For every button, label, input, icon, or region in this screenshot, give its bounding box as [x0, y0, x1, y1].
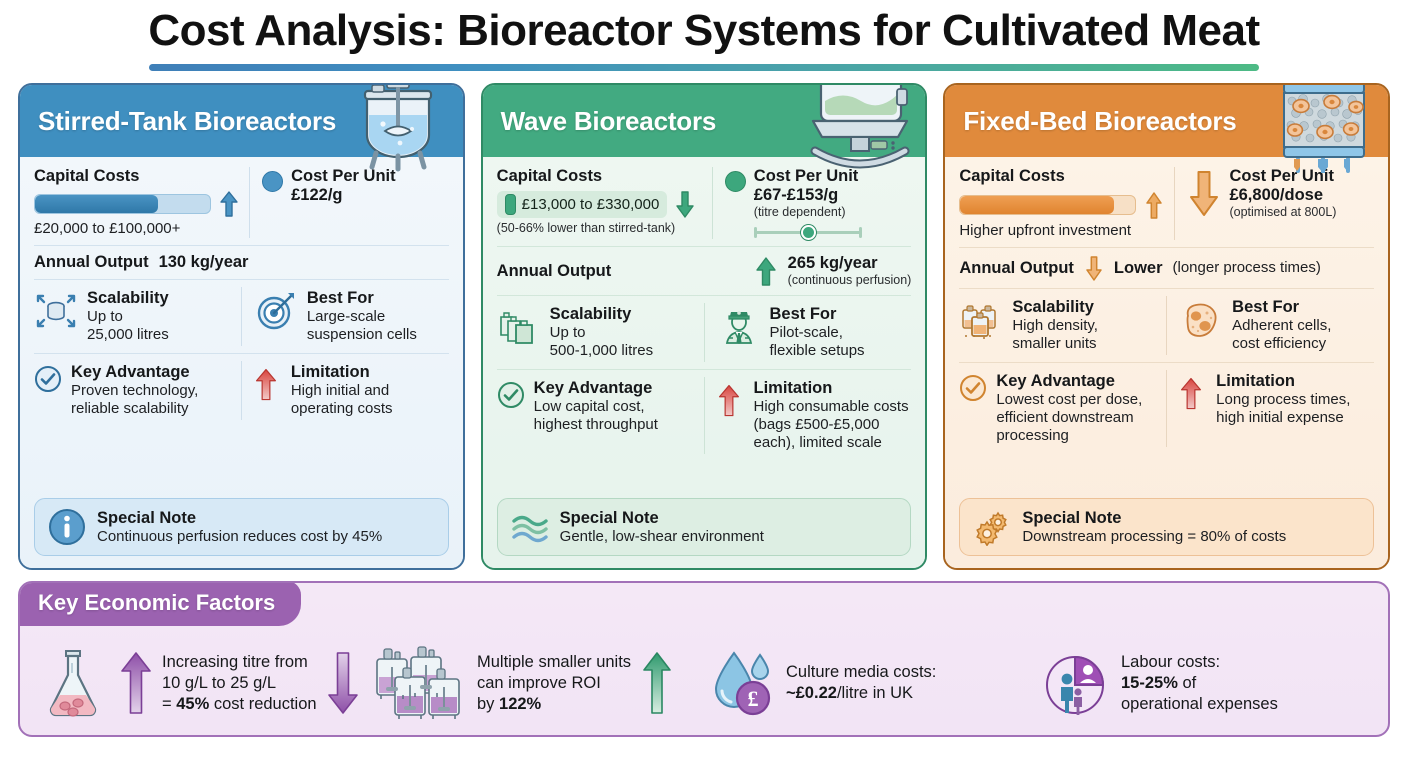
cost-per-unit-block-wave: Cost Per Unit £67-£153/g (titre dependen…: [713, 167, 912, 239]
best-for-value: Adherent cells, cost efficiency: [1232, 317, 1331, 353]
annual-output-value: 265 kg/year: [788, 254, 912, 273]
scalability-label: Scalability: [550, 305, 653, 324]
card-body-fixed-bed: Capital Costs Higher upfront investment: [945, 157, 1388, 568]
cost-per-unit-slider[interactable]: [754, 225, 862, 239]
cost-row-fixed-bed: Capital Costs Higher upfront investment: [959, 167, 1374, 240]
cost-per-unit-note: (optimised at 800L): [1229, 205, 1336, 220]
key-advantage-value: Proven technology, reliable scalability: [71, 382, 198, 418]
key-advantage-cell: Key Advantage Proven technology, reliabl…: [34, 361, 241, 420]
flask-cells-icon: [38, 645, 110, 721]
title-block: Cost Analysis: Bioreactor Systems for Cu…: [0, 0, 1408, 71]
factor-line-2: can improve ROI: [477, 673, 631, 694]
capital-costs-block-fixed-bed: Capital Costs Higher upfront investment: [959, 167, 1174, 240]
special-note-wave: Special Note Gentle, low-shear environme…: [497, 498, 912, 556]
capital-costs-caption: Higher upfront investment: [959, 222, 1164, 240]
waves-icon: [511, 508, 549, 546]
factors-row: Increasing titre from 10 g/L to 25 g/L =…: [20, 637, 1388, 735]
key-advantage-label: Key Advantage: [996, 372, 1142, 391]
check-circle-icon: [959, 374, 987, 402]
best-for-cell: Best For Pilot-scale, flexible setups: [705, 303, 912, 362]
labour-pie-people-icon: [1043, 645, 1115, 721]
best-for-label: Best For: [1232, 298, 1331, 317]
divider: [497, 369, 912, 370]
factor-line-3: operational expenses: [1121, 694, 1278, 715]
special-note-label: Special Note: [560, 509, 764, 528]
capital-costs-label: Capital Costs: [497, 167, 702, 186]
key-advantage-text-block: Key Advantage Proven technology, reliabl…: [71, 363, 198, 418]
special-note-label: Special Note: [1022, 509, 1286, 528]
limitation-cell: Limitation Long process times, high init…: [1167, 370, 1374, 429]
fixed-bed-units-icon: [959, 298, 1003, 342]
limitation-text-block: Limitation High initial and operating co…: [291, 363, 393, 418]
card-title-wave: Wave Bioreactors: [501, 106, 716, 137]
limitation-value: Long process times, high initial expense: [1216, 391, 1350, 427]
card-body-stirred-tank: Capital Costs £20,000 to £100,000+: [20, 157, 463, 568]
key-advantage-cell: Key Advantage Low capital cost, highest …: [497, 377, 704, 436]
card-header-fixed-bed: Fixed-Bed Bioreactors: [945, 85, 1388, 157]
scalability-cell: Scalability High density, smaller units: [959, 296, 1166, 355]
up-arrow-orange-icon: [1144, 191, 1164, 219]
slider-knob[interactable]: [801, 225, 816, 240]
annual-output-note: (continuous perfusion): [788, 273, 912, 288]
special-note-text-block: Special Note Gentle, low-shear environme…: [560, 509, 764, 546]
factor-line-3: = 45% cost reduction: [162, 694, 317, 715]
adherent-cell-icon: [1179, 298, 1223, 342]
scalability-label: Scalability: [87, 289, 169, 308]
cost-per-unit-text: Cost Per Unit £67-£153/g (titre dependen…: [754, 167, 862, 239]
down-arrow-orange-icon: [1187, 169, 1221, 217]
up-arrow-red-icon: [1179, 374, 1207, 402]
capital-costs-bar: [34, 194, 211, 214]
divider: [34, 353, 449, 354]
limitation-label: Limitation: [291, 363, 393, 382]
down-arrow-green-icon: [674, 190, 696, 218]
annual-output-value: Lower: [1114, 259, 1163, 278]
battery-chip-icon: [505, 194, 516, 215]
factor-line-1: Culture media costs:: [786, 662, 936, 683]
factor-multiple-units-text: Multiple smaller units can improve ROI b…: [477, 652, 631, 714]
card-header-wave: Wave Bioreactors: [483, 85, 926, 157]
cost-row-wave: Capital Costs £13,000 to £330,000 (50-66…: [497, 167, 912, 239]
feature-row-scalability-bestfor-stirred-tank: Scalability Up to 25,000 litres: [34, 287, 449, 346]
divider: [497, 295, 912, 296]
annual-output-label: Annual Output: [497, 262, 744, 281]
check-circle-icon: [497, 381, 525, 409]
capital-costs-pill-row: £13,000 to £330,000: [497, 190, 702, 218]
best-for-cell: Best For Large-scale suspension cells: [242, 287, 449, 346]
key-advantage-cell: Key Advantage Lowest cost per dose, effi…: [959, 370, 1166, 447]
bioreactor-card-row: Stirred-Tank Bioreactors: [0, 71, 1408, 570]
up-arrow-purple-icon: [116, 650, 156, 716]
capital-costs-value: £13,000 to £330,000: [522, 196, 660, 213]
factor-line-1: Increasing titre from: [162, 652, 317, 673]
target-dart-icon: [254, 289, 298, 333]
annual-output-row-stirred-tank: Annual Output 130 kg/year: [34, 253, 449, 272]
capital-costs-bar-row: [959, 191, 1164, 219]
slider-cap-left: [754, 227, 757, 238]
best-for-label: Best For: [307, 289, 417, 308]
divider: [959, 288, 1374, 289]
factor-multiple-units: Multiple smaller units can improve ROI b…: [369, 645, 704, 721]
factor-line-1: Multiple smaller units: [477, 652, 631, 673]
cost-row-stirred-tank: Capital Costs £20,000 to £100,000+: [34, 167, 449, 238]
capital-costs-bar-fill: [35, 195, 158, 213]
slider-cap-right: [859, 227, 862, 238]
factor-media-cost-text: Culture media costs: ~£0.22/litre in UK: [786, 662, 936, 704]
capital-costs-caption: (50-66% lower than stirred-tank): [497, 221, 702, 236]
capital-costs-pill: £13,000 to £330,000: [497, 191, 668, 218]
feature-row-scalability-bestfor-wave: Scalability Up to 500-1,000 litres: [497, 303, 912, 362]
annual-output-label: Annual Output: [959, 259, 1074, 278]
limitation-value: High consumable costs (bags £500-£5,000 …: [754, 398, 909, 452]
special-note-value: Gentle, low-shear environment: [560, 528, 764, 546]
key-advantage-value: Low capital cost, highest throughput: [534, 398, 658, 434]
special-note-value: Downstream processing = 80% of costs: [1022, 528, 1286, 546]
factor-titre: Increasing titre from 10 g/L to 25 g/L =…: [34, 645, 369, 721]
special-note-fixed-bed: Special Note Downstream processing = 80%…: [959, 498, 1374, 556]
up-arrow-green-icon: [754, 256, 778, 286]
svg-text:£: £: [748, 686, 759, 711]
special-note-label: Special Note: [97, 509, 382, 528]
capital-costs-block-stirred-tank: Capital Costs £20,000 to £100,000+: [34, 167, 249, 238]
up-arrow-green-icon: [637, 650, 677, 716]
page-title: Cost Analysis: Bioreactor Systems for Cu…: [0, 8, 1408, 54]
card-header-stirred-tank: Stirred-Tank Bioreactors: [20, 85, 463, 157]
divider: [959, 362, 1374, 363]
card-fixed-bed[interactable]: Fixed-Bed Bioreactors: [943, 83, 1390, 570]
cost-per-unit-value: £6,800/dose: [1229, 186, 1336, 205]
factor-line-3: by 122%: [477, 694, 631, 715]
card-title-stirred-tank: Stirred-Tank Bioreactors: [38, 106, 336, 137]
limitation-text-block: Limitation Long process times, high init…: [1216, 372, 1350, 427]
check-circle-icon: [34, 365, 62, 393]
expand-cylinder-icon: [34, 289, 78, 333]
limitation-label: Limitation: [1216, 372, 1350, 391]
title-underline-rule: [149, 64, 1259, 71]
up-arrow-blue-icon: [219, 191, 239, 217]
card-stirred-tank[interactable]: Stirred-Tank Bioreactors: [18, 83, 465, 570]
best-for-value: Large-scale suspension cells: [307, 308, 417, 344]
infographic-page: Cost Analysis: Bioreactor Systems for Cu…: [0, 0, 1408, 768]
key-advantage-label: Key Advantage: [534, 379, 658, 398]
factor-labour-cost: Labour costs: 15-25% of operational expe…: [1039, 645, 1374, 721]
best-for-text-block: Best For Adherent cells, cost efficiency: [1232, 298, 1331, 353]
capital-costs-block-wave: Capital Costs £13,000 to £330,000 (50-66…: [497, 167, 712, 236]
feature-row-advantage-limitation-fixed-bed: Key Advantage Lowest cost per dose, effi…: [959, 370, 1374, 447]
key-advantage-label: Key Advantage: [71, 363, 198, 382]
feature-row-advantage-limitation-wave: Key Advantage Low capital cost, highest …: [497, 377, 912, 454]
best-for-text-block: Best For Pilot-scale, flexible setups: [770, 305, 865, 360]
scalability-text-block: Scalability High density, smaller units: [1012, 298, 1098, 353]
card-title-fixed-bed: Fixed-Bed Bioreactors: [963, 106, 1236, 137]
annual-output-label: Annual Output: [34, 253, 149, 272]
scalability-text-block: Scalability Up to 25,000 litres: [87, 289, 169, 344]
panel-title: Key Economic Factors: [38, 590, 275, 615]
capital-costs-label: Capital Costs: [959, 167, 1164, 186]
annual-output-text-block: 265 kg/year (continuous perfusion): [788, 254, 912, 288]
feature-row-advantage-limitation-stirred-tank: Key Advantage Proven technology, reliabl…: [34, 361, 449, 420]
special-note-text-block: Special Note Downstream processing = 80%…: [1022, 509, 1286, 546]
scalability-value: Up to 500-1,000 litres: [550, 324, 653, 360]
scalability-value: High density, smaller units: [1012, 317, 1098, 353]
up-arrow-red-icon: [254, 365, 282, 393]
pilot-officer-icon: [717, 305, 761, 349]
gears-icon: [973, 508, 1011, 546]
stirred-tank-vessel-icon: [343, 83, 453, 173]
limitation-value: High initial and operating costs: [291, 382, 393, 418]
divider: [34, 245, 449, 246]
divider: [959, 247, 1374, 248]
factor-line-2: 10 g/L to 25 g/L: [162, 673, 317, 694]
factor-titre-text: Increasing titre from 10 g/L to 25 g/L =…: [162, 652, 317, 714]
capital-costs-bar-fill: [960, 196, 1114, 214]
special-note-stirred-tank: Special Note Continuous perfusion reduce…: [34, 498, 449, 556]
divider: [497, 246, 912, 247]
cost-marker-dot-icon: [262, 171, 283, 192]
special-note-value: Continuous perfusion reduces cost by 45%: [97, 528, 382, 546]
key-economic-factors-panel: Key Economic Factors: [18, 581, 1390, 737]
capital-costs-caption: £20,000 to £100,000+: [34, 220, 239, 238]
card-body-wave: Capital Costs £13,000 to £330,000 (50-66…: [483, 157, 926, 568]
best-for-text-block: Best For Large-scale suspension cells: [307, 289, 417, 344]
water-drop-pound-icon: £: [708, 645, 780, 721]
cost-per-unit-block-fixed-bed: Cost Per Unit £6,800/dose (optimised at …: [1175, 167, 1374, 220]
info-circle-icon: [48, 508, 86, 546]
factor-line-2: ~£0.22/litre in UK: [786, 683, 936, 704]
divider: [34, 279, 449, 280]
stacked-bags-icon: [497, 305, 541, 349]
scalability-value: Up to 25,000 litres: [87, 308, 169, 344]
scalability-label: Scalability: [1012, 298, 1098, 317]
factor-media-cost: £ Culture media costs: ~£0.22/litre in U…: [704, 645, 1039, 721]
factor-line-1: Labour costs:: [1121, 652, 1278, 673]
key-advantage-text-block: Key Advantage Low capital cost, highest …: [534, 379, 658, 434]
best-for-value: Pilot-scale, flexible setups: [770, 324, 865, 360]
cost-per-unit-note: (titre dependent): [754, 205, 862, 220]
annual-output-row-wave: Annual Output 265 kg/year (continuous pe…: [497, 254, 912, 288]
key-advantage-text-block: Key Advantage Lowest cost per dose, effi…: [996, 372, 1142, 445]
up-arrow-red-icon: [717, 381, 745, 409]
capital-costs-label: Capital Costs: [34, 167, 239, 186]
best-for-cell: Best For Adherent cells, cost efficiency: [1167, 296, 1374, 355]
limitation-cell: Limitation High initial and operating co…: [242, 361, 449, 420]
down-arrow-orange-small-icon: [1084, 255, 1104, 281]
special-note-text-block: Special Note Continuous perfusion reduce…: [97, 509, 382, 546]
limitation-label: Limitation: [754, 379, 909, 398]
wave-rocker-bag-icon: [805, 83, 915, 173]
feature-row-scalability-bestfor-fixed-bed: Scalability High density, smaller units: [959, 296, 1374, 355]
cost-per-unit-value: £67-£153/g: [754, 186, 862, 205]
cost-per-unit-text: Cost Per Unit £6,800/dose (optimised at …: [1229, 167, 1336, 220]
multiple-bioreactors-icon: [373, 645, 471, 721]
annual-output-row-fixed-bed: Annual Output Lower (longer process time…: [959, 255, 1374, 281]
scalability-cell: Scalability Up to 25,000 litres: [34, 287, 241, 346]
down-arrow-purple-icon: [323, 650, 363, 716]
card-wave[interactable]: Wave Bioreactors: [481, 83, 928, 570]
factor-labour-cost-text: Labour costs: 15-25% of operational expe…: [1121, 652, 1278, 714]
scalability-text-block: Scalability Up to 500-1,000 litres: [550, 305, 653, 360]
cost-per-unit-value: £122/g: [291, 186, 396, 205]
panel-title-tab: Key Economic Factors: [18, 581, 301, 626]
capital-costs-bar: [959, 195, 1136, 215]
capital-costs-bar-row: [34, 191, 239, 217]
packed-bed-matrix-icon: [1268, 83, 1378, 173]
factor-line-2: 15-25% of: [1121, 673, 1278, 694]
cost-marker-dot-icon: [725, 171, 746, 192]
scalability-cell: Scalability Up to 500-1,000 litres: [497, 303, 704, 362]
limitation-text-block: Limitation High consumable costs (bags £…: [754, 379, 909, 452]
annual-output-value: 130 kg/year: [159, 253, 249, 272]
limitation-cell: Limitation High consumable costs (bags £…: [705, 377, 912, 454]
key-advantage-value: Lowest cost per dose, efficient downstre…: [996, 391, 1142, 445]
annual-output-note: (longer process times): [1173, 259, 1321, 277]
best-for-label: Best For: [770, 305, 865, 324]
